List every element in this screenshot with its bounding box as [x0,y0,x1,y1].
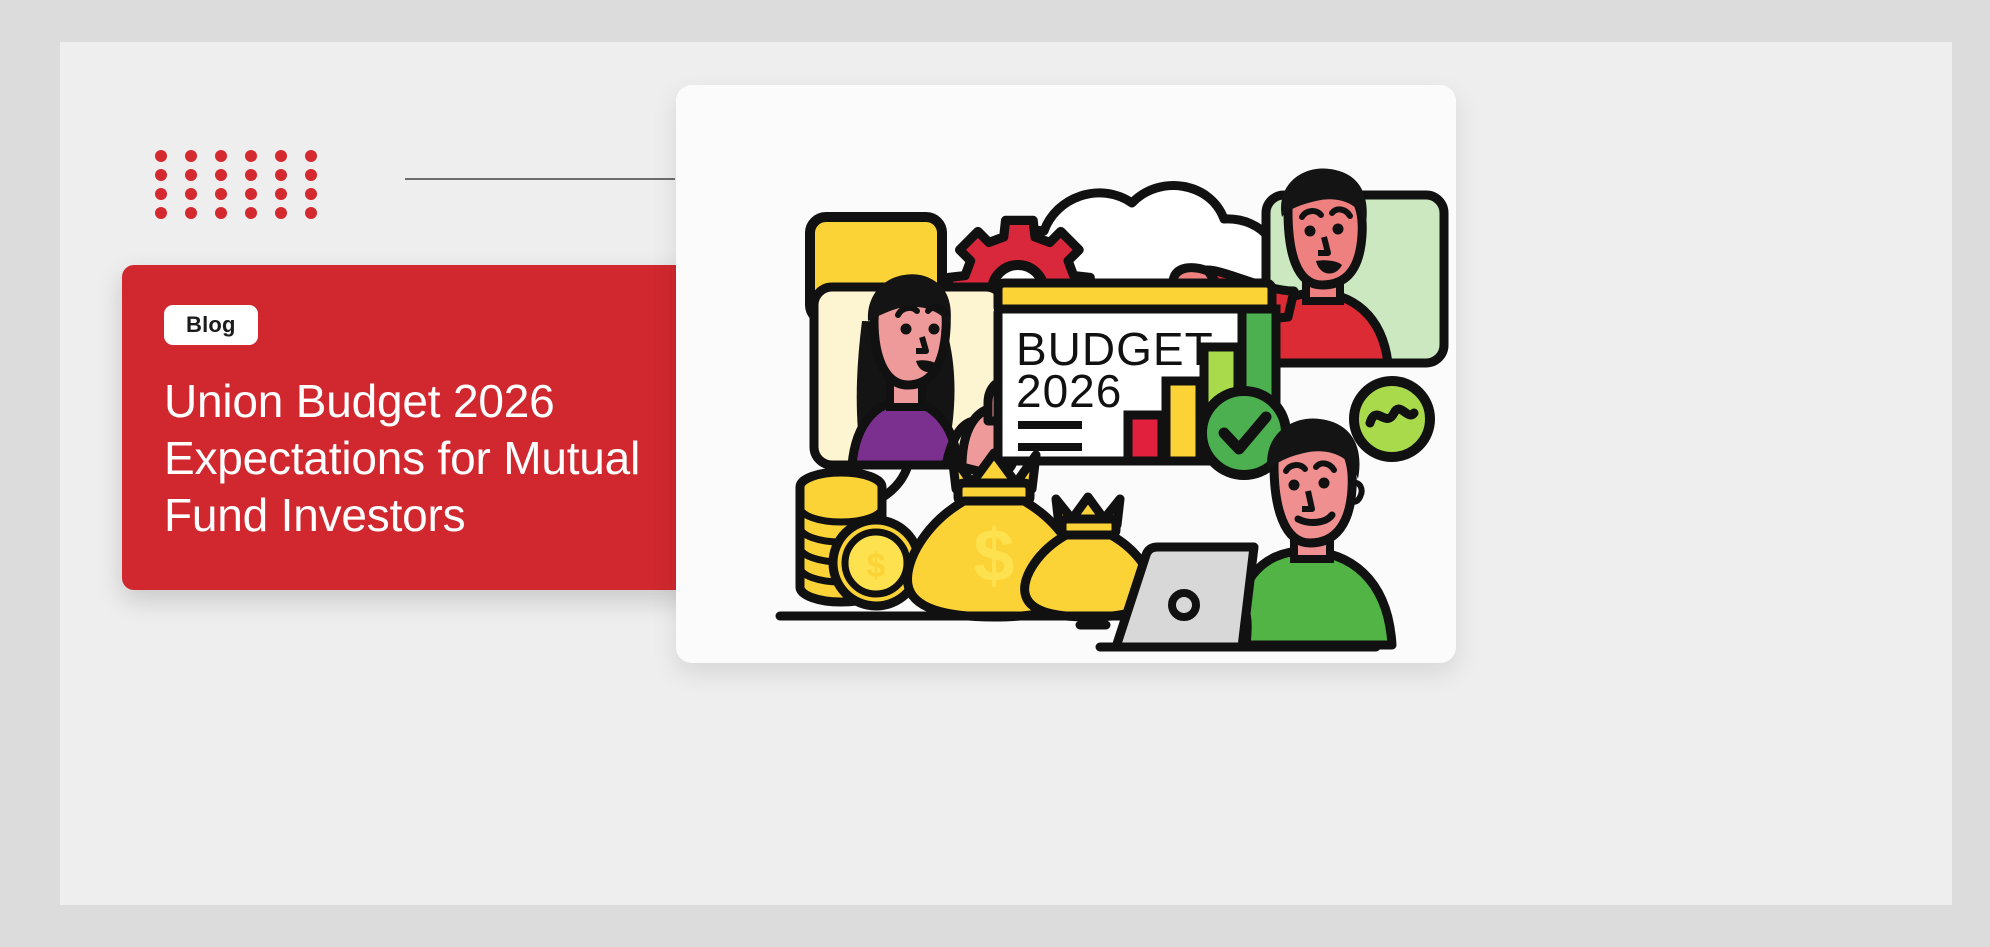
dot [305,207,317,219]
dot [155,150,167,162]
dot [215,207,227,219]
dot [185,169,197,181]
paper-edge-right [1952,0,1990,947]
horizontal-rule [405,178,675,180]
illustration-card: BUDGET 2026 [676,85,1456,663]
dot [185,188,197,200]
paper-edge-top [0,0,1990,42]
page-title: Union Budget 2026 Expectations for Mutua… [164,373,730,544]
dot [305,169,317,181]
dot [215,169,227,181]
dot [245,188,257,200]
dot [185,150,197,162]
dot [275,207,287,219]
dot [245,150,257,162]
trend-circle-icon [1354,381,1430,457]
dot [215,150,227,162]
board-title-line-2: 2026 [1016,365,1122,417]
dot [305,150,317,162]
dot [275,150,287,162]
dot [245,207,257,219]
status-badge[interactable]: Blog [164,305,258,345]
dot [275,169,287,181]
dot [275,188,287,200]
dot [215,188,227,200]
dot [155,207,167,219]
dot [185,207,197,219]
bag-dollar-symbol: $ [973,514,1014,597]
page-root: Blog Union Budget 2026 Expectations for … [0,0,1990,947]
budget-board: BUDGET 2026 [998,283,1286,475]
dot [155,188,167,200]
dot [305,188,317,200]
budget-illustration: BUDGET 2026 [676,85,1456,663]
paper-edge-bottom [0,905,1990,947]
dot [155,169,167,181]
dot [245,169,257,181]
paper-edge-left [0,0,60,947]
dot-grid [155,150,335,226]
coin-dollar-symbol: $ [867,547,886,585]
person-woman-purple [814,274,1024,475]
